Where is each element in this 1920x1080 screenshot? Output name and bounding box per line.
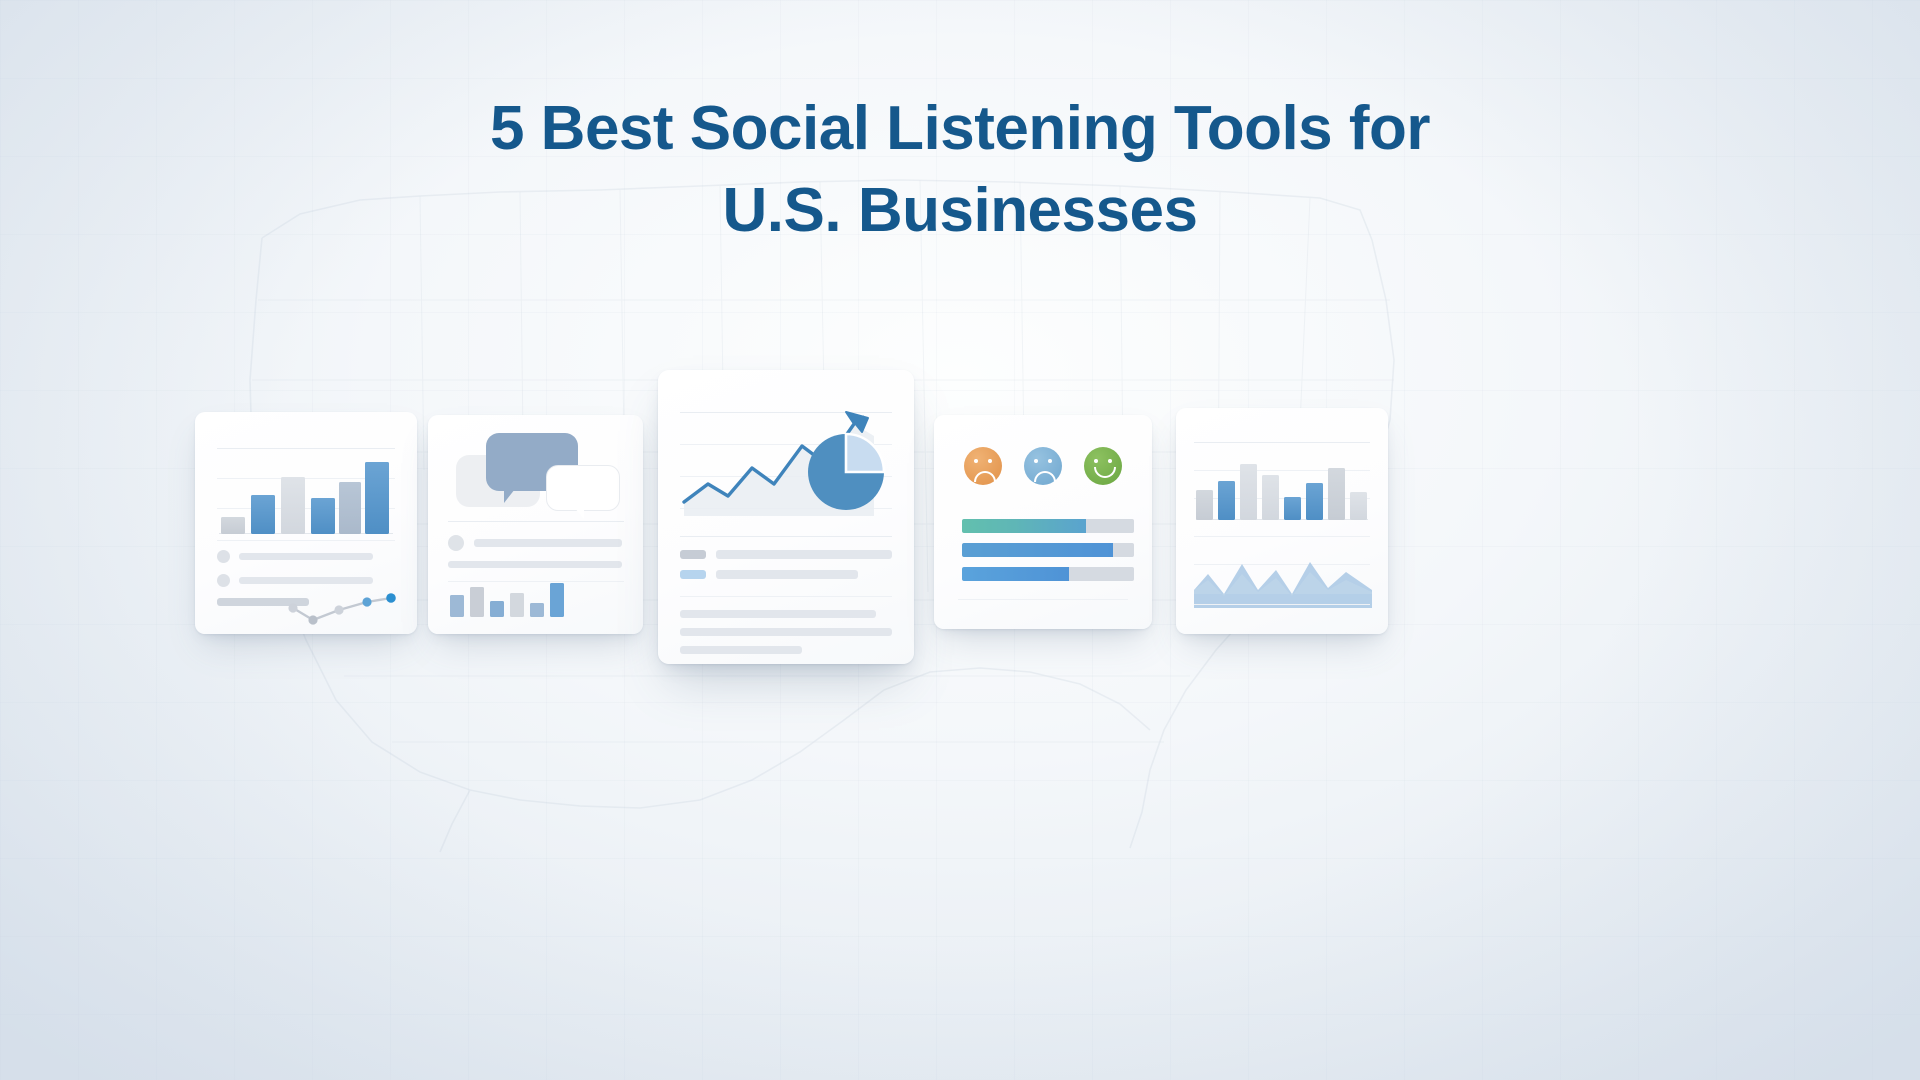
pie-chart-icon [806, 432, 886, 512]
happy-face-green-icon[interactable] [1084, 447, 1122, 485]
bar-chart-icon [1196, 452, 1368, 520]
bar-chart-icon [450, 567, 570, 617]
hero-graphic: 5 Best Social Listening Tools for U.S. B… [0, 0, 1920, 1080]
sentiment-bar [962, 543, 1134, 557]
sentiment-bar [962, 519, 1134, 533]
title-line-2: U.S. Businesses [0, 170, 1920, 252]
avatar [217, 550, 230, 563]
neutral-face-blue-icon[interactable] [1024, 447, 1062, 485]
sentiment-bar [962, 567, 1134, 581]
trend-line-and-pie-card[interactable] [658, 370, 914, 664]
sentiment-bar-fill [962, 519, 1086, 533]
speech-bubble-card[interactable] [428, 415, 643, 634]
volume-and-wave-card[interactable] [1176, 408, 1388, 634]
sad-face-orange-icon[interactable] [964, 447, 1002, 485]
sentiment-card[interactable] [934, 415, 1152, 629]
area-chart-icon [1194, 550, 1372, 608]
text-line [680, 628, 892, 636]
bar-chart-icon [219, 460, 393, 534]
text-line [680, 610, 876, 618]
sparkline-chart [287, 590, 399, 626]
avatar [448, 535, 464, 551]
sentiment-bar-fill [962, 543, 1113, 557]
bar-chart-card[interactable] [195, 412, 417, 634]
text-line [680, 646, 802, 654]
title-line-1: 5 Best Social Listening Tools for [0, 88, 1920, 170]
page-title: 5 Best Social Listening Tools for U.S. B… [0, 88, 1920, 252]
sentiment-bar-fill [962, 567, 1069, 581]
avatar [217, 574, 230, 587]
